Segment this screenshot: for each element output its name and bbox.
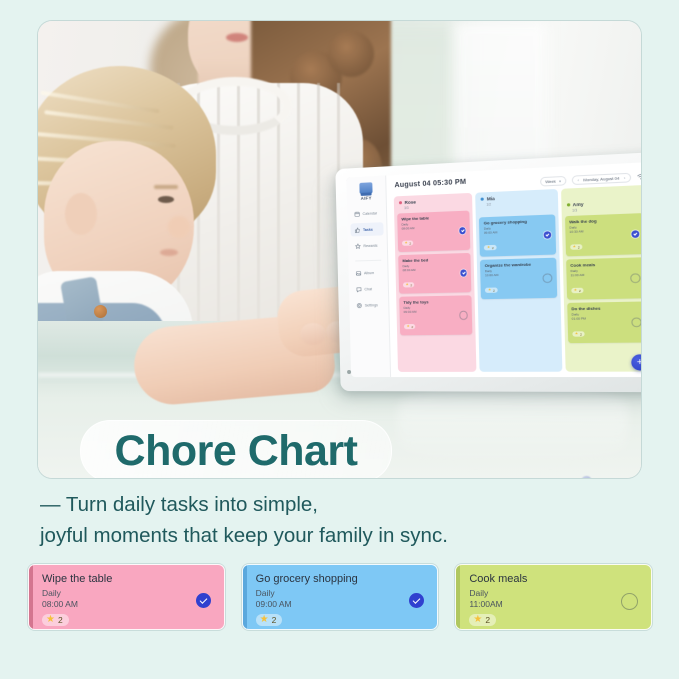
task-checkbox[interactable]: [544, 231, 551, 238]
photo-icon: [356, 270, 362, 276]
sidebar-item-tasks[interactable]: Tasks: [350, 222, 383, 236]
task-card[interactable]: Tidy the toys Daily 09:30 AM ★2: [399, 295, 472, 335]
task-checkbox[interactable]: [543, 273, 552, 282]
sidebar-item-chat[interactable]: Chat: [352, 282, 385, 296]
sidebar-item-album[interactable]: Album: [351, 266, 384, 280]
date-navigator-label: Monday, August 04: [583, 176, 619, 182]
star-icon: ★: [574, 289, 578, 293]
task-star-count: 2: [578, 245, 580, 249]
task-star-badge: ★2: [404, 324, 416, 329]
column-name: Rose: [404, 200, 416, 206]
chore-card-title: Go grocery shopping: [256, 573, 428, 585]
member-dot: [481, 198, 484, 201]
chore-card-title: Wipe the table: [42, 573, 214, 585]
task-star-badge: ★2: [403, 282, 415, 287]
task-checkbox[interactable]: [459, 227, 466, 234]
star-icon: ★: [406, 283, 409, 287]
star-icon: ★: [573, 245, 577, 249]
task-checkbox[interactable]: [460, 269, 467, 276]
hand-knuckle: [300, 323, 326, 345]
chore-card-star-badge: ★ 2: [42, 614, 69, 626]
chore-card-repeat: Daily: [469, 588, 641, 598]
task-card[interactable]: Do the dishes Daily 01:00 PM ★2: [567, 301, 641, 343]
date-navigator[interactable]: ‹ Monday, August 04 ›: [572, 173, 631, 185]
chore-card-star-count: 2: [485, 615, 490, 625]
sidebar-divider: [355, 260, 381, 262]
chore-card-checkbox[interactable]: [196, 593, 211, 608]
tablet-screen: AIFY Calendar Tasks: [346, 162, 641, 377]
chat-icon: [356, 286, 362, 292]
task-card[interactable]: Cook meals Daily 11:00 AM ★2: [566, 257, 641, 299]
view-select-label: Week: [545, 179, 556, 184]
task-star-count: 2: [409, 241, 411, 245]
chore-card-wipe-the-table[interactable]: Wipe the table Daily 08:00 AM ★ 2: [28, 564, 225, 630]
chore-card-title: Cook meals: [469, 573, 641, 585]
star-icon: ★: [575, 332, 579, 336]
app-logo-icon: [359, 182, 372, 194]
thumb-up-icon: [354, 227, 360, 233]
chore-card-checkbox[interactable]: [621, 593, 638, 610]
sidebar-item-calendar[interactable]: Calendar: [350, 206, 383, 220]
chore-card-star-count: 2: [58, 615, 63, 625]
hair-strand: [44, 110, 174, 130]
column-name: Amy: [573, 202, 584, 208]
chore-card-repeat: Daily: [256, 588, 428, 598]
member-dot: [567, 203, 570, 206]
child-mouth: [160, 249, 178, 256]
tagline-line-2: joyful moments that keep your family in …: [40, 521, 640, 552]
chore-card-time: 11:00AM: [469, 599, 641, 609]
star-outline-icon: [355, 243, 361, 249]
task-card[interactable]: Organize the wardrobe Daily 10:00 AM ★2: [480, 258, 557, 300]
task-card[interactable]: Walk the dog Daily 10:30 AM ★2: [565, 213, 641, 256]
task-checkbox[interactable]: [632, 230, 640, 237]
task-title: Do the dishes: [571, 305, 641, 312]
tagline: — Turn daily tasks into simple, joyful m…: [40, 490, 640, 552]
app-brand-name: AIFY: [361, 195, 372, 201]
mother-curl: [328, 31, 374, 77]
child-overall-button: [94, 305, 107, 318]
sidebar-item-settings[interactable]: Settings: [352, 298, 385, 312]
sidebar-label-settings: Settings: [365, 303, 378, 307]
chore-card-star-badge: ★ 2: [469, 614, 496, 626]
task-card[interactable]: Make the bed Daily 08:30 AM ★2: [398, 253, 471, 294]
task-time: 01:00 PM: [572, 316, 641, 321]
sidebar-label-rewards: Rewards: [363, 243, 377, 248]
page-title: Chore Chart: [115, 427, 358, 476]
child-ear: [65, 193, 97, 235]
child-eyebrow: [154, 185, 178, 189]
board-column-mia: Mia 1/2 Go grocery shopping Daily 09:00 …: [475, 189, 562, 372]
gear-icon: [356, 302, 362, 308]
task-time: 08:30 AM: [403, 266, 467, 272]
sidebar-label-album: Album: [364, 271, 374, 275]
star-icon: ★: [487, 246, 491, 250]
prev-date-icon[interactable]: ‹: [577, 177, 579, 182]
task-star-badge: ★2: [572, 332, 585, 337]
chore-board: Rose 3/3 Wipe the table Daily 08:00 AM ★…: [387, 185, 641, 377]
child-nose: [168, 216, 190, 238]
chore-card-repeat: Daily: [42, 588, 214, 598]
task-star-count: 2: [580, 332, 582, 336]
column-name: Mia: [487, 196, 495, 202]
member-dot: [399, 201, 402, 204]
tablet-device: AIFY Calendar Tasks: [335, 152, 641, 393]
wifi-icon[interactable]: [637, 173, 641, 181]
task-star-count: 2: [411, 325, 413, 329]
tagline-line-1: — Turn daily tasks into simple,: [40, 490, 640, 521]
task-star-badge: ★2: [571, 288, 584, 294]
task-star-count: 2: [492, 246, 494, 250]
calendar-icon: [354, 211, 360, 217]
tablet-bezel: AIFY Calendar Tasks: [335, 152, 641, 393]
card-accent-bar: [243, 565, 247, 629]
app-main: August 04 05:30 PM Week ▾ ‹ Monday, Augu…: [386, 162, 641, 377]
mother-lips: [226, 33, 248, 42]
task-star-count: 2: [493, 288, 495, 292]
board-column-amy: Amy 1/3 Walk the dog Daily 10:30 AM ★2: [561, 185, 641, 372]
star-icon: ★: [404, 242, 407, 246]
sidebar-label-chat: Chat: [364, 287, 372, 291]
task-star-badge: ★2: [484, 245, 496, 251]
sidebar-label-calendar: Calendar: [363, 211, 378, 216]
task-star-count: 2: [579, 289, 581, 293]
next-date-icon[interactable]: ›: [624, 175, 626, 180]
task-star-badge: ★2: [485, 288, 497, 293]
star-icon: ★: [473, 615, 482, 625]
chevron-down-icon: ▾: [559, 179, 561, 183]
chore-card-cook-meals[interactable]: Cook meals Daily 11:00AM ★ 2: [455, 564, 652, 630]
title-badge: Chore Chart: [80, 420, 392, 478]
card-accent-bar: [29, 565, 33, 629]
task-star-badge: ★2: [402, 241, 414, 246]
hair-strand: [40, 91, 159, 114]
task-star-count: 2: [410, 283, 412, 287]
view-select[interactable]: Week ▾: [540, 176, 567, 187]
star-icon: ★: [46, 615, 55, 625]
chore-card-go-grocery-shopping[interactable]: Go grocery shopping Daily 09:00 AM ★ 2: [242, 564, 439, 630]
sidebar-item-rewards[interactable]: Rewards: [351, 238, 384, 252]
task-checkbox[interactable]: [631, 273, 641, 282]
chore-card-star-count: 2: [272, 615, 277, 625]
task-card[interactable]: Go grocery shopping Daily 09:00 AM ★2: [479, 214, 555, 256]
board-column-rose: Rose 3/3 Wipe the table Daily 08:00 AM ★…: [394, 193, 477, 372]
chore-card-time: 08:00 AM: [42, 599, 214, 609]
task-card[interactable]: Wipe the table Daily 08:00 AM ★2: [397, 211, 470, 253]
task-star-badge: ★2: [570, 244, 583, 250]
app-sidebar: AIFY Calendar Tasks: [346, 176, 391, 378]
card-accent-bar: [456, 565, 460, 629]
star-icon: ★: [407, 325, 410, 329]
star-icon: ★: [488, 289, 492, 293]
task-checkbox[interactable]: [459, 311, 468, 320]
chore-card-list: Wipe the table Daily 08:00 AM ★ 2 Go gro…: [28, 564, 652, 630]
hero-photo: AIFY Calendar Tasks: [38, 21, 641, 478]
chore-card-star-badge: ★ 2: [256, 614, 283, 626]
sidebar-label-tasks: Tasks: [363, 227, 373, 231]
task-checkbox[interactable]: [632, 317, 641, 326]
chore-card-time: 09:00 AM: [256, 599, 428, 609]
star-icon: ★: [260, 615, 269, 625]
child-eye: [158, 196, 174, 203]
